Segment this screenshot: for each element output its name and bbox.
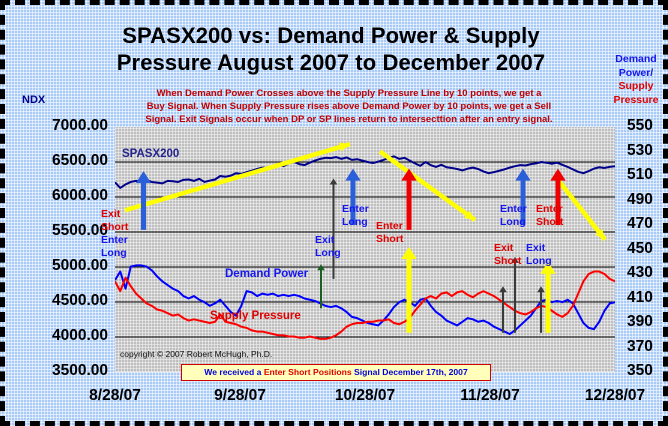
copyright-notice: copyright © 2007 Robert McHugh, Ph.D.: [120, 349, 272, 359]
left-axis-tick-label: 6500.00: [0, 152, 108, 170]
banner-text-pre: We received a: [204, 367, 264, 377]
chart-title-line-2: Pressure August 2007 to December 2007: [51, 49, 611, 76]
annotation-line-2: Long: [101, 247, 128, 260]
enter-long-arrow-2-head: [345, 169, 360, 181]
left-axis-tick-label: 3500.00: [0, 362, 108, 380]
annotation-line-1: Enter: [101, 234, 128, 247]
annotation-enter-long: EnterLong: [101, 234, 128, 260]
annotation-line-1: Exit: [494, 242, 521, 255]
annotation-enter-long: EnterLong: [342, 203, 369, 229]
right-axis-title-line-1: Demand: [603, 53, 668, 67]
series-label-spasx200: SPASX200: [122, 148, 179, 160]
banner-text-post: Signal December 17th, 2007: [352, 367, 468, 377]
uptrend-arrow-head: [339, 143, 350, 152]
annotation-exit-short: ExitShort: [494, 242, 521, 268]
chart-subtitle-line-3: Signal. Exit Signals occur when DP or SP…: [93, 113, 605, 126]
right-axis-tick-label: 550: [627, 117, 668, 135]
right-axis-title-line-3: Supply: [603, 80, 668, 94]
right-axis-tick-label: 530: [627, 142, 668, 160]
chart-container: SPASX200 vs: Demand Power & Supply Press…: [0, 0, 668, 426]
annotation-line-2: Short: [494, 255, 521, 268]
annotation-line-1: Exit: [101, 208, 128, 221]
enter-short-arrow-2-head: [550, 169, 565, 181]
annotation-exit-long: ExitLong: [526, 242, 552, 268]
x-axis-tick-label: 9/28/07: [195, 387, 285, 405]
annotation-line-1: Enter: [536, 203, 563, 216]
chart-subtitle-line-2: Buy Signal. When Supply Pressure rises a…: [93, 100, 605, 113]
right-axis-tick-label: 510: [627, 166, 668, 184]
annotation-line-1: Enter: [500, 203, 527, 216]
annotation-line-1: Enter: [342, 203, 369, 216]
annotation-line-2: Long: [342, 216, 369, 229]
right-axis-tick-label: 470: [627, 215, 668, 233]
annotation-line-2: Long: [500, 216, 527, 229]
exit-long-arrow-1-head: [330, 178, 338, 184]
right-axis-title: Demand Power/ Supply Pressure: [603, 53, 668, 107]
chart-subtitle: When Demand Power Crosses above the Supp…: [93, 87, 605, 127]
annotation-line-1: Enter: [376, 220, 403, 233]
banner-text-highlight: Enter Short Positions: [264, 367, 352, 377]
series-label-demand-power: Demand Power: [225, 268, 308, 280]
exit-long-arrow-3-head: [537, 286, 545, 292]
annotation-line-2: Short: [536, 216, 563, 229]
left-axis-tick-label: 4500.00: [0, 292, 108, 310]
annotation-line-1: Exit: [315, 234, 341, 247]
annotation-line-2: Short: [376, 233, 403, 246]
series-label-supply-pressure: Supply Pressure: [210, 310, 301, 322]
enter-short-arrow-1-lower-head: [401, 247, 416, 259]
right-axis-tick-label: 410: [627, 289, 668, 307]
right-axis-tick-label: 430: [627, 264, 668, 282]
chart-title: SPASX200 vs: Demand Power & Supply Press…: [51, 22, 611, 76]
left-axis-tick-label: 4000.00: [0, 327, 108, 345]
left-axis-tick-label: 5500.00: [0, 222, 108, 240]
annotation-exit-short: ExitShort: [101, 208, 128, 234]
left-axis-tick-label: 5000.00: [0, 257, 108, 275]
enter-long-arrow-3-head: [515, 169, 530, 181]
right-axis-tick-label: 370: [627, 338, 668, 356]
annotation-line-2: Long: [526, 255, 552, 268]
x-axis-tick-label: 12/28/07: [570, 387, 660, 405]
x-axis-tick-label: 8/28/07: [70, 387, 160, 405]
right-axis-tick-label: 450: [627, 240, 668, 258]
left-axis-tick-label: 6000.00: [0, 187, 108, 205]
annotation-enter-short: EnterShort: [376, 220, 403, 246]
chart-title-line-1: SPASX200 vs: Demand Power & Supply: [51, 22, 611, 49]
series-line-spasx200: [115, 156, 615, 188]
annotation-line-1: Exit: [526, 242, 552, 255]
left-axis-title: NDX: [22, 94, 45, 106]
right-axis-title-line-4: Pressure: [603, 94, 668, 108]
exit-short-arrow-2-head: [499, 286, 507, 292]
annotation-line-2: Short: [101, 221, 128, 234]
annotation-line-2: Long: [315, 247, 341, 260]
chart-subtitle-line-1: When Demand Power Crosses above the Supp…: [93, 87, 605, 100]
annotation-enter-long: EnterLong: [500, 203, 527, 229]
enter-long-arrow-1-head: [136, 171, 151, 183]
annotation-enter-short: EnterShort: [536, 203, 563, 229]
right-axis-tick-label: 490: [627, 191, 668, 209]
right-axis-tick-label: 390: [627, 313, 668, 331]
signal-banner: We received a Enter Short Positions Sign…: [181, 364, 491, 381]
x-axis-tick-label: 11/28/07: [445, 387, 535, 405]
left-axis-tick-label: 7000.00: [0, 117, 108, 135]
x-axis-tick-label: 10/28/07: [320, 387, 410, 405]
right-axis-tick-label: 350: [627, 362, 668, 380]
right-axis-title-line-2: Power/: [603, 67, 668, 81]
annotation-exit-long: ExitLong: [315, 234, 341, 260]
